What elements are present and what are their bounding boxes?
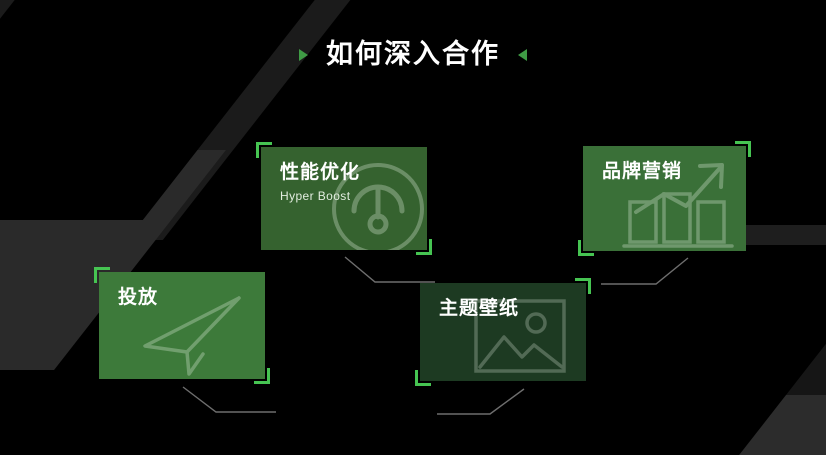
- card-performance-body: 性能优化 Hyper Boost: [261, 147, 427, 250]
- card-wallpaper[interactable]: 主题壁纸: [420, 283, 586, 381]
- card-branding-body: 品牌营销: [583, 146, 746, 251]
- corner-bracket-top-right: [735, 141, 751, 157]
- card-distribution[interactable]: 投放: [99, 272, 265, 379]
- card-performance-sublabel: Hyper Boost: [280, 190, 350, 204]
- corner-bracket-bottom-left: [578, 240, 594, 256]
- card-branding[interactable]: 品牌营销: [583, 146, 746, 251]
- connector-distribution-down: [178, 382, 288, 422]
- card-performance-label: 性能优化: [280, 162, 360, 184]
- card-performance[interactable]: 性能优化 Hyper Boost: [261, 147, 427, 250]
- card-distribution-body: 投放: [99, 272, 265, 379]
- card-distribution-label: 投放: [118, 287, 158, 309]
- card-wallpaper-body: 主题壁纸: [420, 283, 586, 381]
- corner-bracket-top-left: [256, 142, 272, 158]
- slide-title: 如何深入合作: [326, 41, 500, 68]
- corner-bracket-bottom-left: [415, 370, 431, 386]
- corner-bracket-top-left: [94, 267, 110, 283]
- corner-bracket-bottom-right: [254, 368, 270, 384]
- corner-bracket-bottom-right: [416, 239, 432, 255]
- triangle-left-icon: [518, 49, 527, 61]
- card-wallpaper-label: 主题壁纸: [439, 298, 519, 320]
- connector-wallpaper-to-branding: [596, 252, 706, 292]
- card-branding-label: 品牌营销: [602, 161, 682, 183]
- corner-bracket-top-right: [575, 278, 591, 294]
- connector-wallpaper-down: [432, 384, 542, 424]
- triangle-right-icon: [299, 49, 308, 61]
- slide-title-row: 如何深入合作: [0, 41, 826, 68]
- presentation-slide: 如何深入合作: [0, 0, 826, 455]
